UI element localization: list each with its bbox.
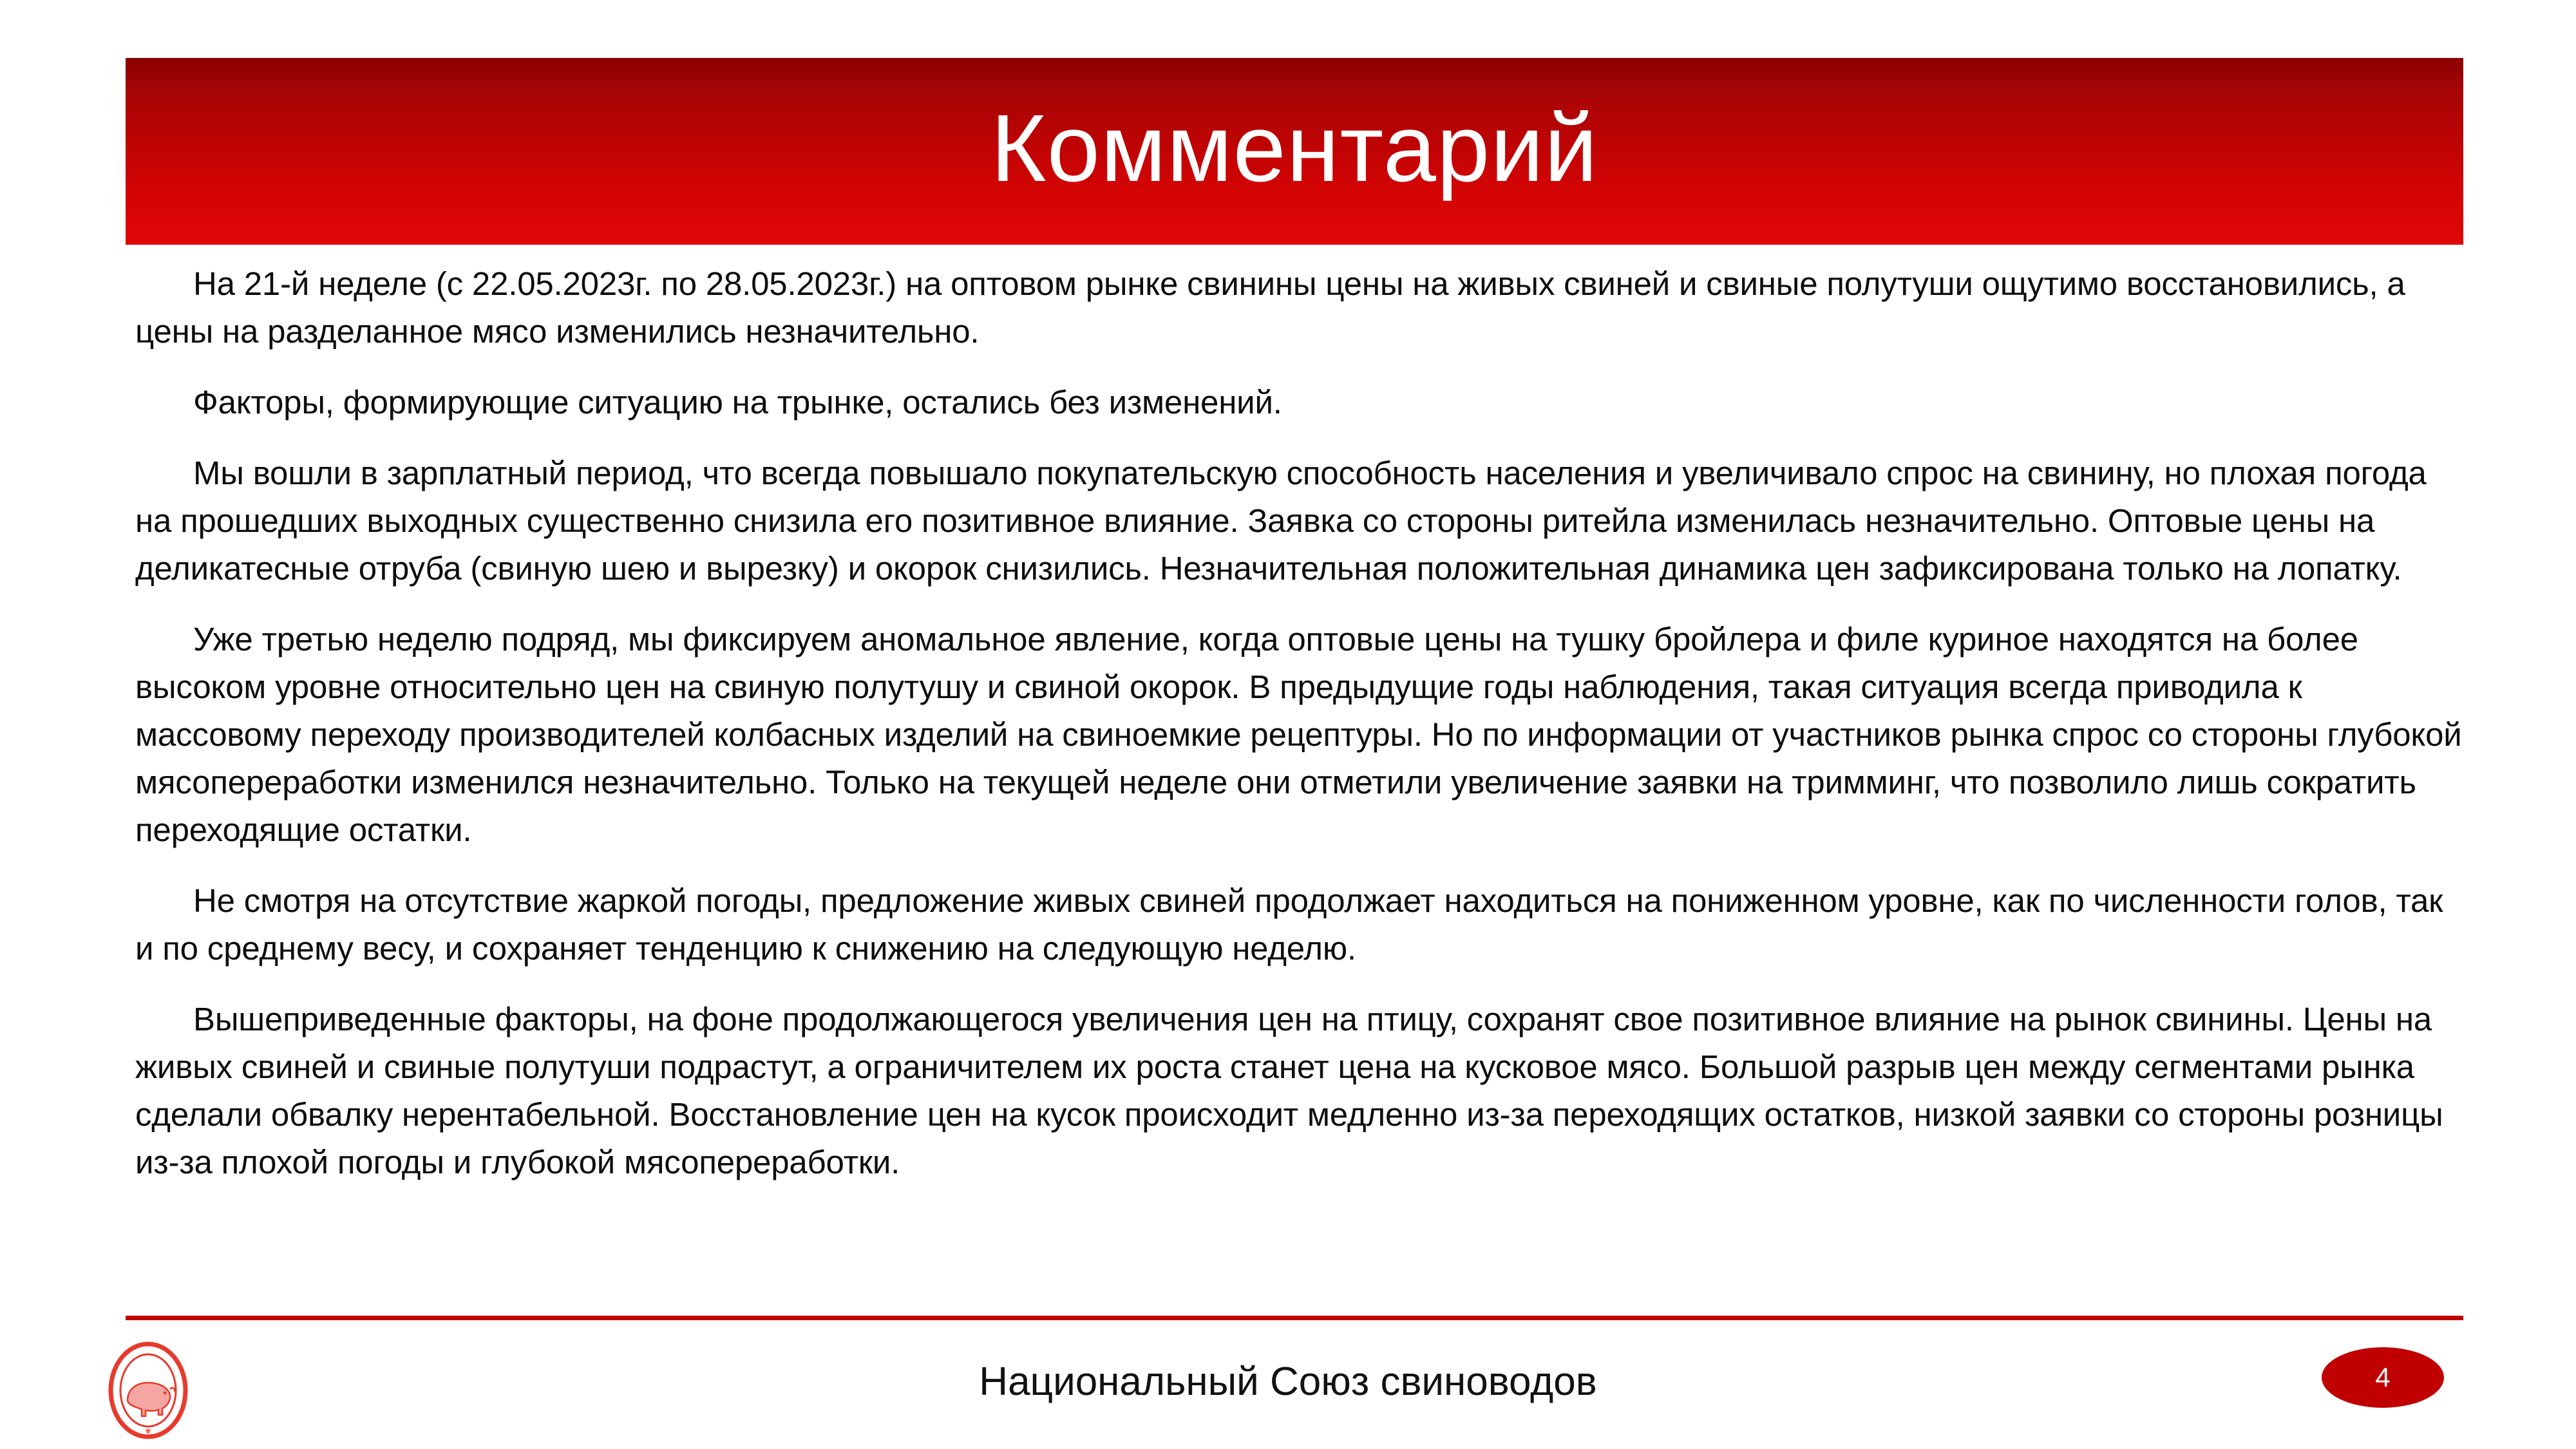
body-paragraph: Мы вошли в зарплатный период, что всегда… (135, 450, 2467, 592)
body-paragraph: Вышеприведенные факторы, на фоне продолж… (135, 996, 2467, 1186)
body-paragraph: Не смотря на отсутствие жаркой погоды, п… (135, 877, 2467, 972)
page-number-badge: 4 (2322, 1347, 2444, 1408)
footer-organization-name: Национальный Союз свиноводов (0, 1358, 2576, 1406)
svg-text:✾: ✾ (145, 1428, 151, 1435)
footer-divider (126, 1316, 2463, 1320)
body-paragraph: На 21-й неделе (с 22.05.2023г. по 28.05.… (135, 260, 2467, 355)
body-paragraph: Уже третью неделю подряд, мы фиксируем а… (135, 616, 2467, 854)
page-number-label: 4 (2375, 1364, 2390, 1391)
page-title: Комментарий (990, 101, 1598, 196)
slide-title-banner: Комментарий (126, 58, 2463, 245)
body-paragraph: Факторы, формирующие ситуацию на трынке,… (135, 379, 2467, 426)
slide-body: На 21-й неделе (с 22.05.2023г. по 28.05.… (135, 260, 2467, 1186)
